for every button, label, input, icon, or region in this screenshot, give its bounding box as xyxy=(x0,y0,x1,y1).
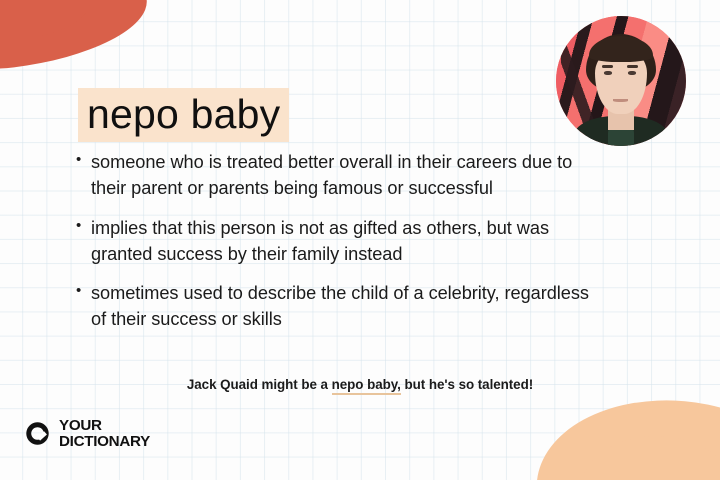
definition-item: sometimes used to describe the child of … xyxy=(74,281,604,333)
example-text-before: Jack Quaid might be a xyxy=(187,377,332,392)
portrait-eye-right xyxy=(628,71,636,75)
headword-term: nepo baby xyxy=(78,88,289,142)
portrait-eye-left xyxy=(604,71,612,75)
decorative-blob-bottom-right xyxy=(532,389,720,480)
logo-line-your: YOUR xyxy=(59,418,150,434)
decorative-blob-top-left xyxy=(0,0,153,81)
logo-line-dictionary: DICTIONARY xyxy=(59,434,150,450)
portrait-avatar xyxy=(556,16,686,146)
logo-wordmark: YOUR DICTIONARY xyxy=(59,418,150,449)
q-ring-icon xyxy=(25,421,50,446)
example-sentence: Jack Quaid might be a nepo baby, but he'… xyxy=(0,377,720,392)
decorative-blob-bottom-right-secondary xyxy=(580,436,720,480)
definition-item: implies that this person is not as gifte… xyxy=(74,216,604,268)
portrait-eyebrow-right xyxy=(627,65,638,68)
decorative-blob-top-left-secondary xyxy=(0,0,90,40)
definition-list: someone who is treated better overall in… xyxy=(74,150,604,333)
portrait-mouth xyxy=(613,99,628,102)
yourdictionary-logo: YOUR DICTIONARY xyxy=(25,418,150,449)
headword-container: nepo baby xyxy=(78,88,289,142)
definition-item: someone who is treated better overall in… xyxy=(74,150,604,202)
example-text-after: but he's so talented! xyxy=(401,377,533,392)
definition-card: nepo baby someone who is treated better … xyxy=(0,0,720,480)
portrait-eyebrow-left xyxy=(602,65,613,68)
example-highlighted-term: nepo baby, xyxy=(332,377,401,395)
